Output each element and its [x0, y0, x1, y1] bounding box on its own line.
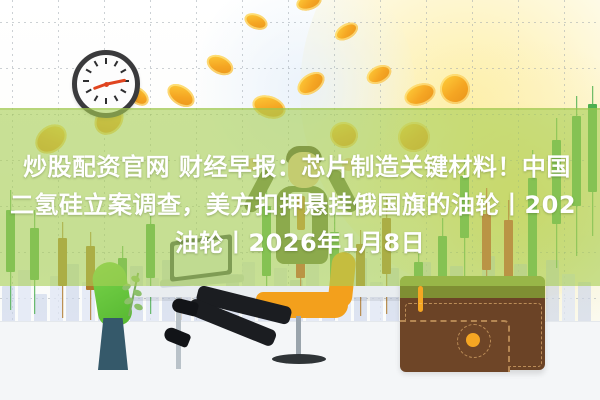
chair-pole — [296, 316, 301, 358]
screenshot-stage: 炒股配资官网 财经早报：芯片制造关键材料！中国 二氢硅立案调查，美方扣押悬挂俄国… — [0, 0, 600, 400]
wallet-pocket — [400, 320, 510, 372]
headline-band-top-edge — [0, 108, 600, 110]
headline: 炒股配资官网 财经早报：芯片制造关键材料！中国 二氢硅立案调查，美方扣押悬挂俄国… — [0, 148, 600, 262]
wallet-button — [466, 333, 480, 347]
headline-line-2: 二氢硅立案调查，美方扣押悬挂俄国旗的油轮丨202 — [0, 186, 600, 224]
leather-wallet — [400, 276, 545, 370]
headline-line-1: 炒股配资官网 财经早报：芯片制造关键材料！中国 — [0, 148, 600, 186]
headline-line-3: 油轮丨2026年1月8日 — [0, 224, 600, 262]
chair-base — [272, 354, 326, 364]
